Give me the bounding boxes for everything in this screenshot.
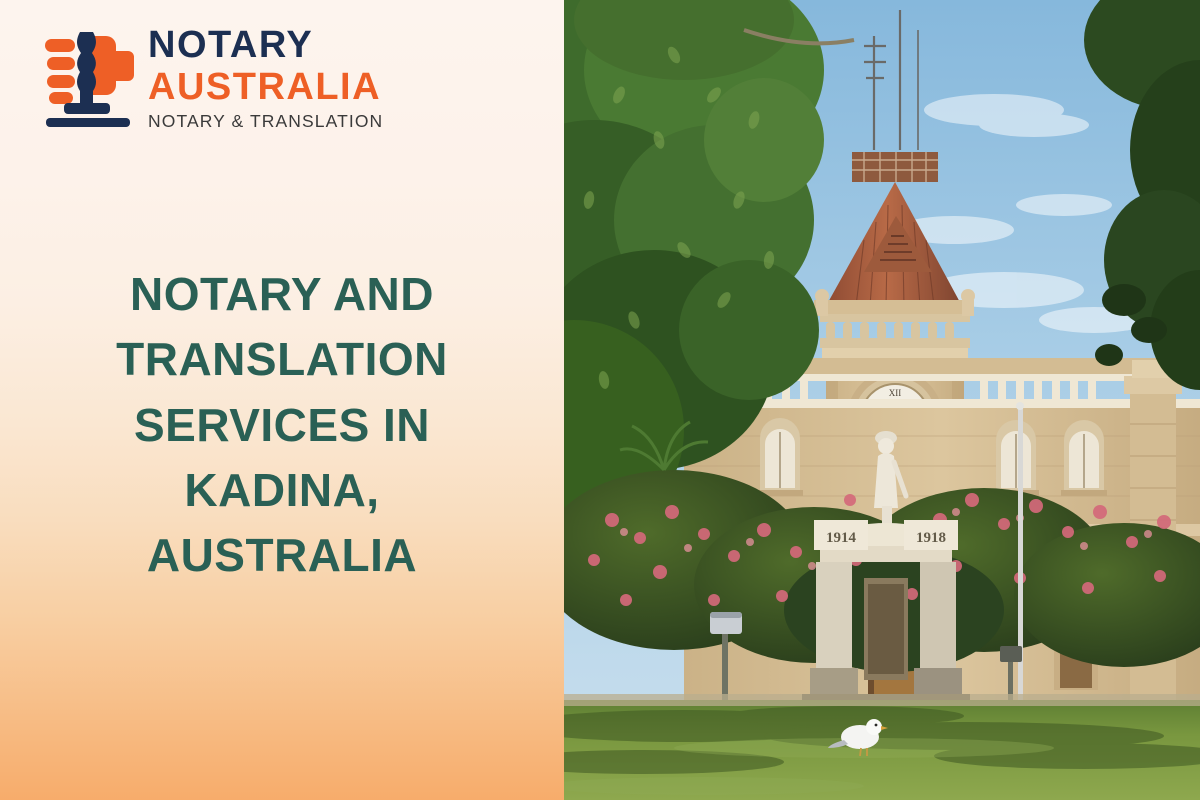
- memorial-date-left: 1914: [826, 530, 857, 546]
- headline-line-3: SERVICES IN: [134, 399, 430, 451]
- page-title: NOTARY AND TRANSLATION SERVICES IN KADIN…: [50, 262, 514, 589]
- headline-line-2: TRANSLATION: [116, 333, 448, 385]
- left-content-panel: NOTARY AUSTRALIA NOTARY & TRANSLATION NO…: [0, 0, 564, 800]
- headline-line-1: NOTARY AND: [130, 268, 434, 320]
- footpath: [564, 694, 1200, 706]
- hero-banner: NOTARY AUSTRALIA NOTARY & TRANSLATION NO…: [0, 0, 1200, 800]
- facade-window-right-upper-a: [993, 420, 1039, 496]
- svg-text:XII: XII: [889, 388, 902, 398]
- facade-window-left-upper: [757, 418, 803, 496]
- facade-window-right-upper-b: [1061, 420, 1107, 496]
- hero-photo: XII III VI IX: [564, 0, 1200, 800]
- headline-line-5: AUSTRALIA: [147, 529, 417, 581]
- headline-line-4: KADINA,: [184, 464, 379, 516]
- kadina-town-hall-photo: XII III VI IX: [564, 0, 1200, 800]
- tower-railing: [852, 152, 938, 182]
- brand-logo[interactable]: NOTARY AUSTRALIA NOTARY & TRANSLATION: [40, 26, 383, 131]
- logo-line-notary: NOTARY: [148, 26, 383, 64]
- logo-wordmark: NOTARY AUSTRALIA NOTARY & TRANSLATION: [148, 26, 383, 131]
- logo-tagline: NOTARY & TRANSLATION: [148, 113, 383, 131]
- logo-line-australia: AUSTRALIA: [148, 68, 383, 106]
- notary-stamp-seal-icon: [40, 26, 136, 130]
- memorial-date-right: 1918: [916, 530, 946, 546]
